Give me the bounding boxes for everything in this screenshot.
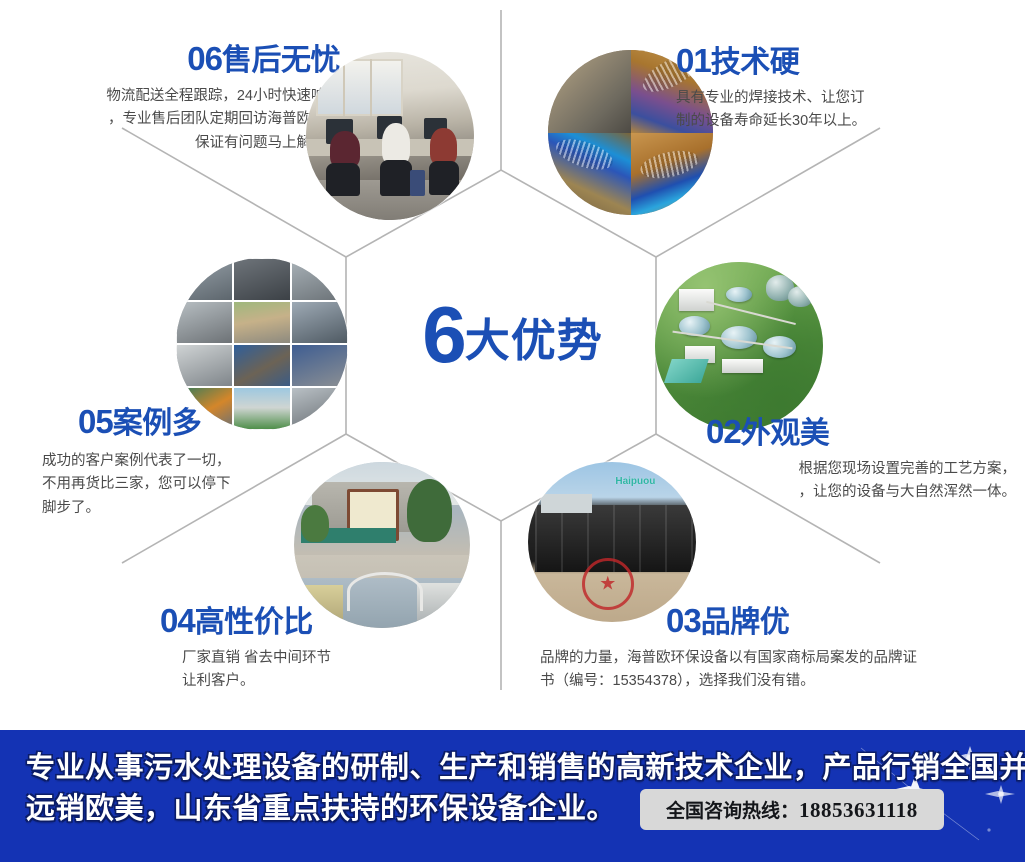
banner-line-2: 远销欧美，山东省重点扶持的环保设备企业。 [26, 789, 616, 830]
bottom-banner: 专业从事污水处理设备的研制、生产和销售的高新技术企业，产品行销全国并 远销欧美，… [0, 730, 1025, 862]
feature-appearance-heading: 02外观美 [706, 415, 1016, 450]
feature-brand-title: 品牌优 [701, 606, 790, 639]
feature-cases-heading: 05案例多 [42, 405, 342, 440]
hotline-badge[interactable]: 全国咨询热线：18853631118 [640, 789, 944, 830]
feature-appearance-title: 外观美 [741, 417, 830, 450]
hotline-number: 18853631118 [799, 798, 918, 822]
feature-value-body: 厂家直销 省去中间环节 让利客户。 [160, 647, 460, 694]
office-team-photo [306, 52, 474, 220]
feature-technology: 01技术硬 具有专业的焊接技术、让您订 制的设备寿命延长30年以上。 [676, 44, 1016, 134]
feature-technology-body: 具有专业的焊接技术、让您订 制的设备寿命延长30年以上。 [676, 87, 1016, 134]
feature-technology-title: 技术硬 [711, 46, 800, 79]
equipment-trademark-photo: Haipuou ★ [528, 462, 696, 622]
center-title: 6大优势 [0, 295, 1025, 375]
feature-value-title: 高性价比 [195, 606, 313, 639]
feature-technology-number: 01 [676, 42, 711, 79]
infographic-root: 6大优势 06售后无忧 物流配送全程跟踪，24小时快速响应 ，专业售后团队定期回… [0, 0, 1025, 862]
aerial-plant-photo [655, 262, 823, 430]
center-number: 6 [422, 290, 465, 379]
feature-technology-heading: 01技术硬 [676, 44, 1016, 79]
feature-after-sales: 06售后无忧 物流配送全程跟踪，24小时快速响应 ，专业售后团队定期回访海普欧向… [10, 42, 340, 155]
feature-cases-number: 05 [78, 403, 113, 440]
feature-brand: 03品牌优 品牌的力量，海普欧环保设备以有国家商标局案发的品牌证 书（编号：15… [540, 604, 1020, 694]
center-label: 大优势 [465, 315, 603, 366]
feature-appearance-number: 02 [706, 413, 741, 450]
feature-appearance: 02外观美 根据您现场设置完善的工艺方案， ，让您的设备与大自然浑然一体。 [706, 415, 1016, 505]
feature-after-sales-heading: 06售后无忧 [10, 42, 340, 77]
haipuou-logo: Haipuou [615, 476, 655, 487]
feature-value: 04高性价比 厂家直销 省去中间环节 让利客户。 [160, 604, 460, 694]
feature-after-sales-number: 06 [187, 40, 222, 77]
banner-line-1: 专业从事污水处理设备的研制、生产和销售的高新技术企业，产品行销全国并 [26, 748, 1006, 789]
feature-cases-title: 案例多 [113, 407, 202, 440]
feature-after-sales-body: 物流配送全程跟踪，24小时快速响应 ，专业售后团队定期回访海普欧向您 保证有问题… [10, 85, 340, 155]
feature-appearance-body: 根据您现场设置完善的工艺方案， ，让您的设备与大自然浑然一体。 [706, 458, 1016, 505]
stamp-star-icon: ★ [599, 575, 616, 594]
feature-brand-body: 品牌的力量，海普欧环保设备以有国家商标局案发的品牌证 书（编号：15354378… [540, 647, 1020, 694]
hotline-label: 全国咨询热线： [666, 801, 799, 822]
feature-value-number: 04 [160, 602, 195, 639]
feature-value-heading: 04高性价比 [160, 604, 460, 639]
feature-brand-heading: 03品牌优 [540, 604, 1020, 639]
trademark-stamp: ★ [582, 558, 634, 610]
feature-brand-number: 03 [666, 602, 701, 639]
